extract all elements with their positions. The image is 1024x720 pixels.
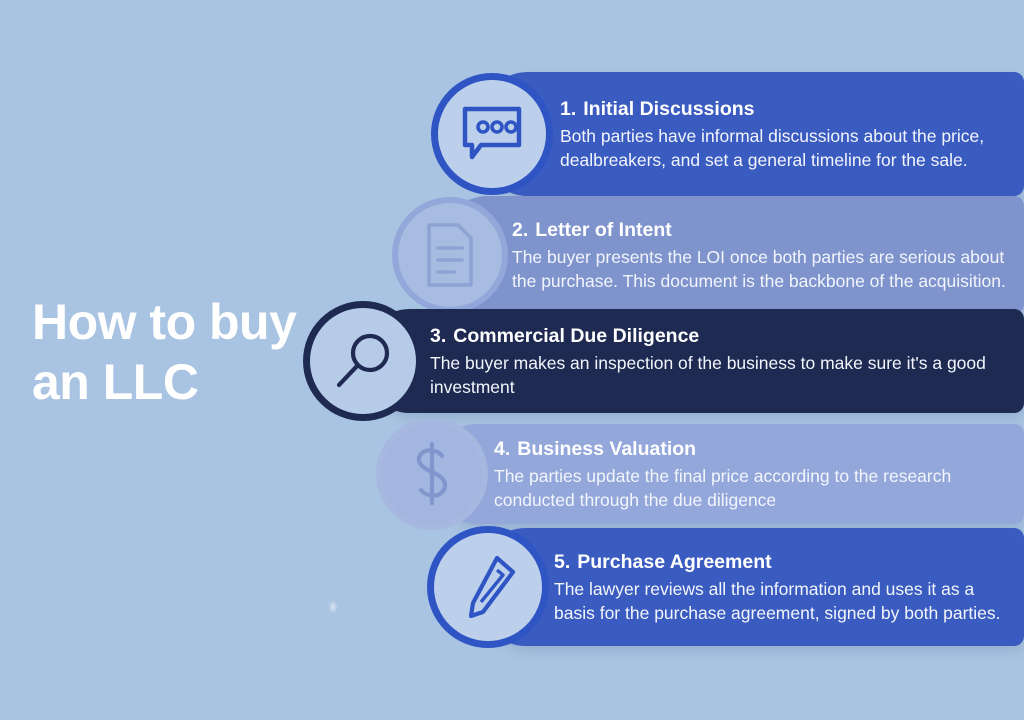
step-body: The buyer presents the LOI once both par… — [512, 245, 1010, 294]
steps-list: 1.Initial Discussions Both parties have … — [0, 0, 1024, 720]
speech-bubble-icon — [438, 80, 546, 188]
step-title: Business Valuation — [517, 438, 696, 460]
step-heading: 4.Business Valuation — [494, 436, 1010, 462]
step-number: 5. — [554, 551, 570, 573]
step-item-initial-discussions[interactable]: 1.Initial Discussions Both parties have … — [480, 72, 1024, 196]
pencil-icon — [434, 533, 542, 641]
step-text: 2.Letter of Intent The buyer presents th… — [512, 217, 1024, 294]
step-heading: 1.Initial Discussions — [560, 96, 1010, 122]
magnifying-glass-icon — [310, 308, 416, 414]
step-title: Commercial Due Diligence — [453, 325, 699, 347]
step-item-letter-of-intent[interactable]: 2.Letter of Intent The buyer presents th… — [440, 196, 1024, 314]
step-number: 1. — [560, 98, 576, 120]
step-title: Letter of Intent — [535, 219, 672, 241]
step-heading: 5.Purchase Agreement — [554, 549, 1010, 575]
step-number: 3. — [430, 325, 446, 347]
step-body: Both parties have informal discussions a… — [560, 124, 1010, 173]
step-body: The parties update the final price accor… — [494, 464, 1010, 513]
step-number: 2. — [512, 219, 528, 241]
step-item-purchase-agreement[interactable]: 5.Purchase Agreement The lawyer reviews … — [478, 528, 1024, 646]
document-icon — [398, 203, 502, 307]
step-body: The buyer makes an inspection of the bus… — [430, 351, 1010, 400]
step-title: Purchase Agreement — [577, 551, 771, 573]
step-item-business-valuation[interactable]: 4.Business Valuation The parties update … — [430, 424, 1024, 524]
dollar-sign-icon — [382, 424, 482, 524]
step-heading: 2.Letter of Intent — [512, 217, 1010, 243]
step-item-commercial-due-diligence[interactable]: 3.Commercial Due Diligence The buyer mak… — [362, 309, 1024, 413]
infographic-canvas: How to buy an LLC 1.Initial Discussions … — [0, 0, 1024, 720]
step-number: 4. — [494, 438, 510, 460]
step-title: Initial Discussions — [583, 98, 754, 120]
step-text: 1.Initial Discussions Both parties have … — [560, 96, 1024, 173]
step-heading: 3.Commercial Due Diligence — [430, 323, 1010, 349]
step-text: 5.Purchase Agreement The lawyer reviews … — [554, 549, 1024, 626]
step-text: 4.Business Valuation The parties update … — [494, 436, 1024, 513]
step-text: 3.Commercial Due Diligence The buyer mak… — [430, 323, 1024, 400]
step-body: The lawyer reviews all the information a… — [554, 577, 1010, 626]
